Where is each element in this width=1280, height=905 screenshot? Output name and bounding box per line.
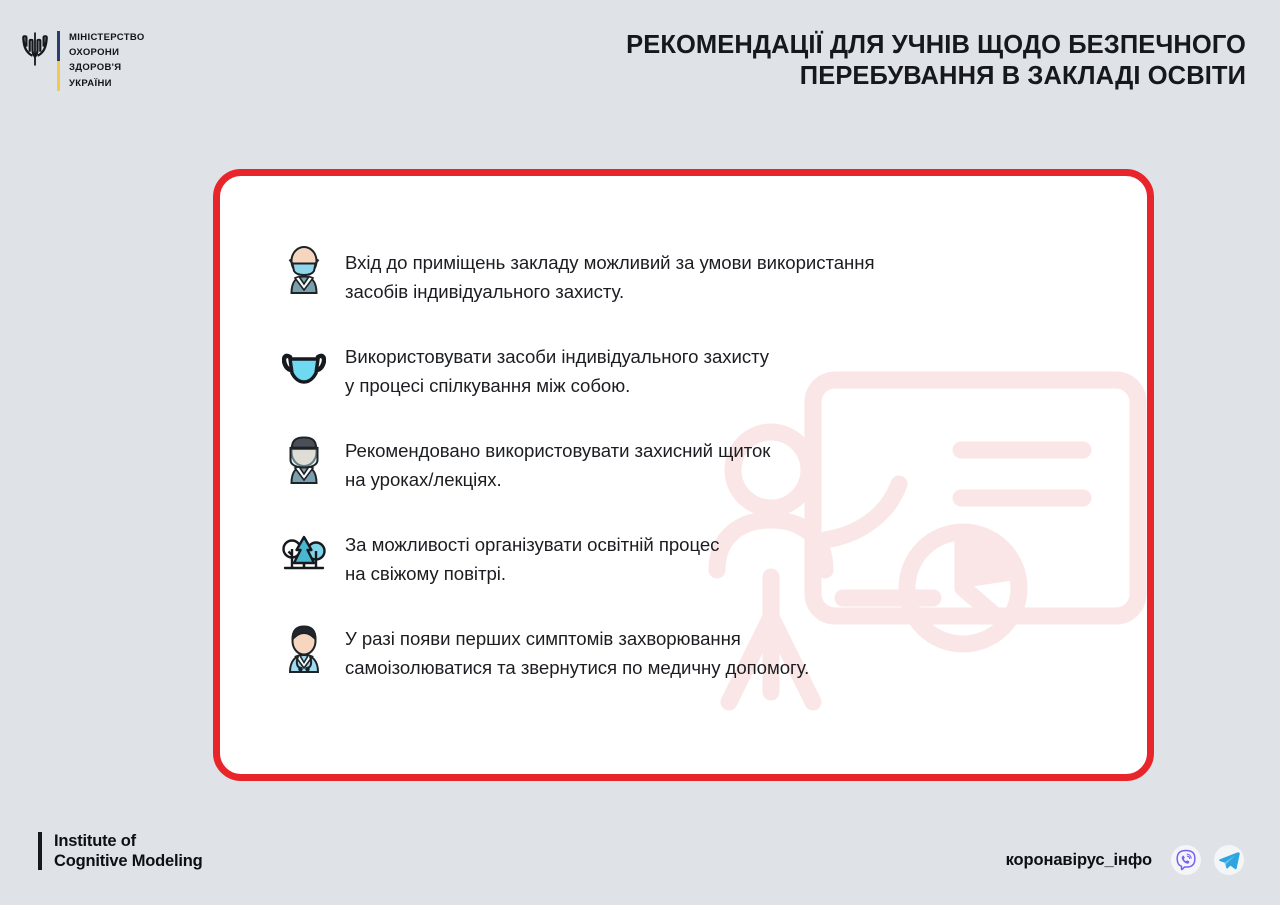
list-item-text: За можливості організувати освітній проц… [345,528,719,588]
doctor-with-stethoscope-icon [282,625,326,673]
list-item-text: Рекомендовано використовувати захисний щ… [345,434,770,494]
list-item: За можливості організувати освітній проц… [282,528,1042,588]
list-item: Рекомендовано використовувати захисний щ… [282,434,1042,494]
list-item: Використовувати засоби індивідуального з… [282,340,1042,400]
telegram-icon[interactable] [1214,845,1244,875]
list-item: Вхід до приміщень закладу можливий за ум… [282,246,1042,306]
recommendations-card: Вхід до приміщень закладу можливий за ум… [213,169,1154,781]
page-title: РЕКОМЕНДАЦІЇ ДЛЯ УЧНІВ ЩОДО БЕЗПЕЧНОГО П… [486,30,1246,92]
ukraine-trident-icon [22,32,48,66]
face-mask-icon [282,344,326,392]
page-header: МІНІСТЕРСТВО ОХОРОНИ ЗДОРОВ'Я УКРАЇНИ РЕ… [0,0,1280,125]
institute-name: Institute of Cognitive Modeling [54,831,203,871]
ministry-name: МІНІСТЕРСТВО ОХОРОНИ ЗДОРОВ'Я УКРАЇНИ [69,30,145,91]
social-handle: коронавірус_інфо [1006,851,1152,870]
list-item: У разі появи перших симптомів захворюван… [282,622,1042,682]
social-links: коронавірус_інфо [1006,845,1244,875]
recommendations-list: Вхід до приміщень закладу можливий за ум… [282,246,1042,682]
trees-outdoors-icon [282,529,326,577]
flag-divider [57,31,60,91]
person-with-face-shield-icon [282,436,326,484]
institute-logo: Institute of Cognitive Modeling [38,831,203,871]
person-with-mask-icon [282,246,326,294]
list-item-text: Використовувати засоби індивідуального з… [345,340,769,400]
viber-icon[interactable] [1171,845,1201,875]
page-footer: Institute of Cognitive Modeling коронаві… [0,781,1280,905]
list-item-text: У разі появи перших симптомів захворюван… [345,622,809,682]
logo-bar [38,832,42,870]
ministry-of-health-logo: МІНІСТЕРСТВО ОХОРОНИ ЗДОРОВ'Я УКРАЇНИ [22,30,145,91]
list-item-text: Вхід до приміщень закладу можливий за ум… [345,246,874,306]
